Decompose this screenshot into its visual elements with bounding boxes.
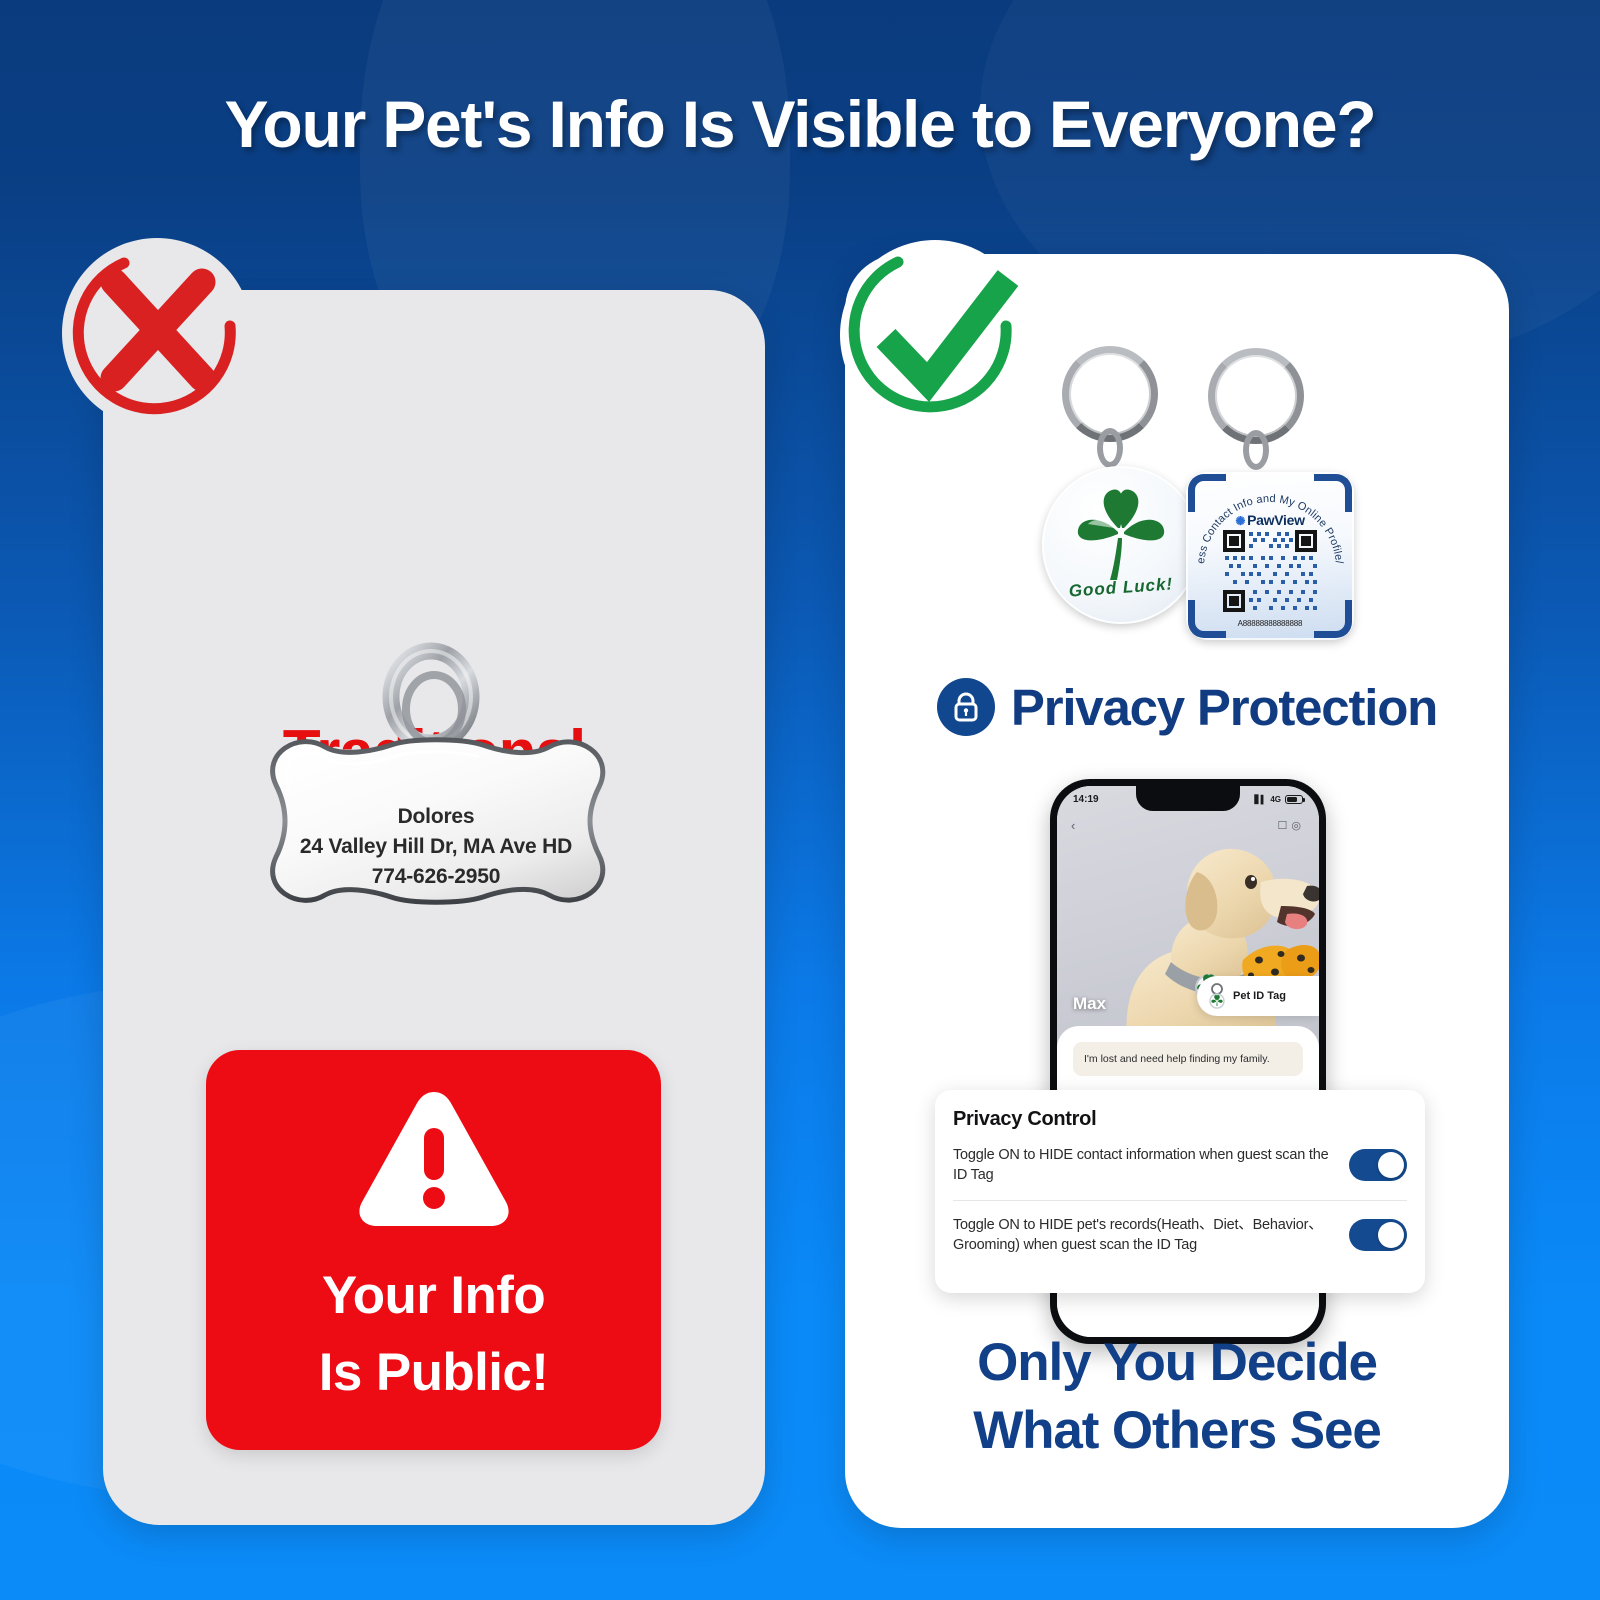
nav-actions: ☐◎ (1278, 819, 1305, 832)
share-icon[interactable]: ☐ (1278, 820, 1292, 832)
traditional-tags-card: Traditional Tags (103, 290, 765, 1525)
pet-id-tag-label: Pet ID Tag (1233, 990, 1286, 1002)
pawview-brand-label: ✺PawView (1186, 512, 1354, 528)
ring-inner (1215, 355, 1297, 437)
tag-connector-link (1243, 430, 1269, 470)
privacy-row-text: Toggle ON to HIDE pet's records(Heath、Di… (953, 1215, 1335, 1255)
toggle-knob (1378, 1222, 1404, 1248)
privacy-control-panel: Privacy Control Toggle ON to HIDE contac… (935, 1090, 1425, 1293)
hide-pet-records-toggle[interactable] (1349, 1219, 1407, 1251)
engraving-address: 24 Valley Hill Dr, MA Ave HD (221, 832, 651, 862)
brand-text: PawView (1247, 512, 1305, 528)
lock-glyph (951, 691, 981, 723)
engraving-phone: 774-626-2950 (221, 862, 651, 892)
privacy-control-title: Privacy Control (953, 1108, 1407, 1131)
battery-icon (1285, 795, 1303, 804)
phone-nav-row: ‹ ☐◎ (1057, 814, 1319, 836)
pet-id-tag-icon (1208, 983, 1226, 1009)
tagline-line-1: Only You Decide (845, 1329, 1509, 1397)
network-label: 4G (1270, 795, 1281, 804)
ring-inner (1069, 353, 1151, 435)
paw-icon: ✺ (1235, 514, 1245, 528)
page-headline: Your Pet's Info Is Visible to Everyone? (0, 86, 1600, 162)
hide-contact-info-toggle[interactable] (1349, 1149, 1407, 1181)
tagline-line-2: What Others See (845, 1397, 1509, 1465)
bone-pet-tag: Dolores 24 Valley Hill Dr, MA Ave HD 774… (221, 635, 651, 975)
pawview-tags-card: Good Luck! ess Contact Info and My Onlin… (845, 254, 1509, 1528)
circled-check-icon (840, 240, 1030, 430)
status-indicators: ▋▌ 4G (1255, 795, 1304, 804)
check-mark-glyph (840, 240, 1030, 430)
qr-bracket-top-right (1314, 474, 1352, 512)
privacy-protection-label: Privacy Protection (1011, 678, 1437, 737)
privacy-control-row: Toggle ON to HIDE contact information wh… (953, 1145, 1407, 1200)
phone-notch (1136, 786, 1240, 811)
privacy-row-text: Toggle ON to HIDE contact information wh… (953, 1145, 1335, 1185)
pawview-qr-tag: ess Contact Info and My Online Profile/ … (1186, 472, 1354, 640)
poster-root: Your Pet's Info Is Visible to Everyone? … (0, 0, 1600, 1600)
tag-connector-link (1097, 428, 1123, 468)
pet-name-label: Max (1073, 994, 1106, 1014)
warning-triangle-icon (354, 1084, 514, 1232)
decide-tagline: Only You Decide What Others See (845, 1329, 1509, 1465)
privacy-protection-header: Privacy Protection (867, 674, 1507, 740)
qr-bracket-top-left (1188, 474, 1226, 512)
signal-icon: ▋▌ (1255, 795, 1267, 804)
pet-id-tag-chip[interactable]: Pet ID Tag (1197, 976, 1319, 1016)
camera-icon[interactable]: ◎ (1291, 820, 1305, 832)
status-time: 14:19 (1073, 794, 1099, 805)
lost-pet-message: I'm lost and need help finding my family… (1073, 1042, 1303, 1076)
public-info-warning-box: Your Info Is Public! (206, 1050, 661, 1450)
x-mark-glyph (62, 238, 252, 428)
warning-text: Your Info Is Public! (206, 1258, 661, 1412)
circled-x-icon (62, 238, 252, 428)
panel-divider (953, 1200, 1407, 1201)
warning-line-2: Is Public! (206, 1335, 661, 1412)
qr-code-icon (1221, 528, 1319, 614)
lock-icon (937, 678, 995, 736)
good-luck-clover-tag: Good Luck! (1042, 466, 1200, 624)
four-leaf-clover-icon (1070, 488, 1172, 584)
toggle-knob (1378, 1152, 1404, 1178)
keychain-tags-group: Good Luck! ess Contact Info and My Onlin… (1040, 346, 1380, 666)
clover-tag-caption: Good Luck! (1042, 573, 1200, 604)
engraving-name: Dolores (221, 802, 651, 832)
qr-tag-serial: A88888888888888 (1186, 619, 1354, 628)
back-chevron-icon[interactable]: ‹ (1071, 818, 1075, 833)
bone-tag-engraving: Dolores 24 Valley Hill Dr, MA Ave HD 774… (221, 802, 651, 891)
warning-line-1: Your Info (206, 1258, 661, 1335)
privacy-control-row: Toggle ON to HIDE pet's records(Heath、Di… (953, 1215, 1407, 1255)
